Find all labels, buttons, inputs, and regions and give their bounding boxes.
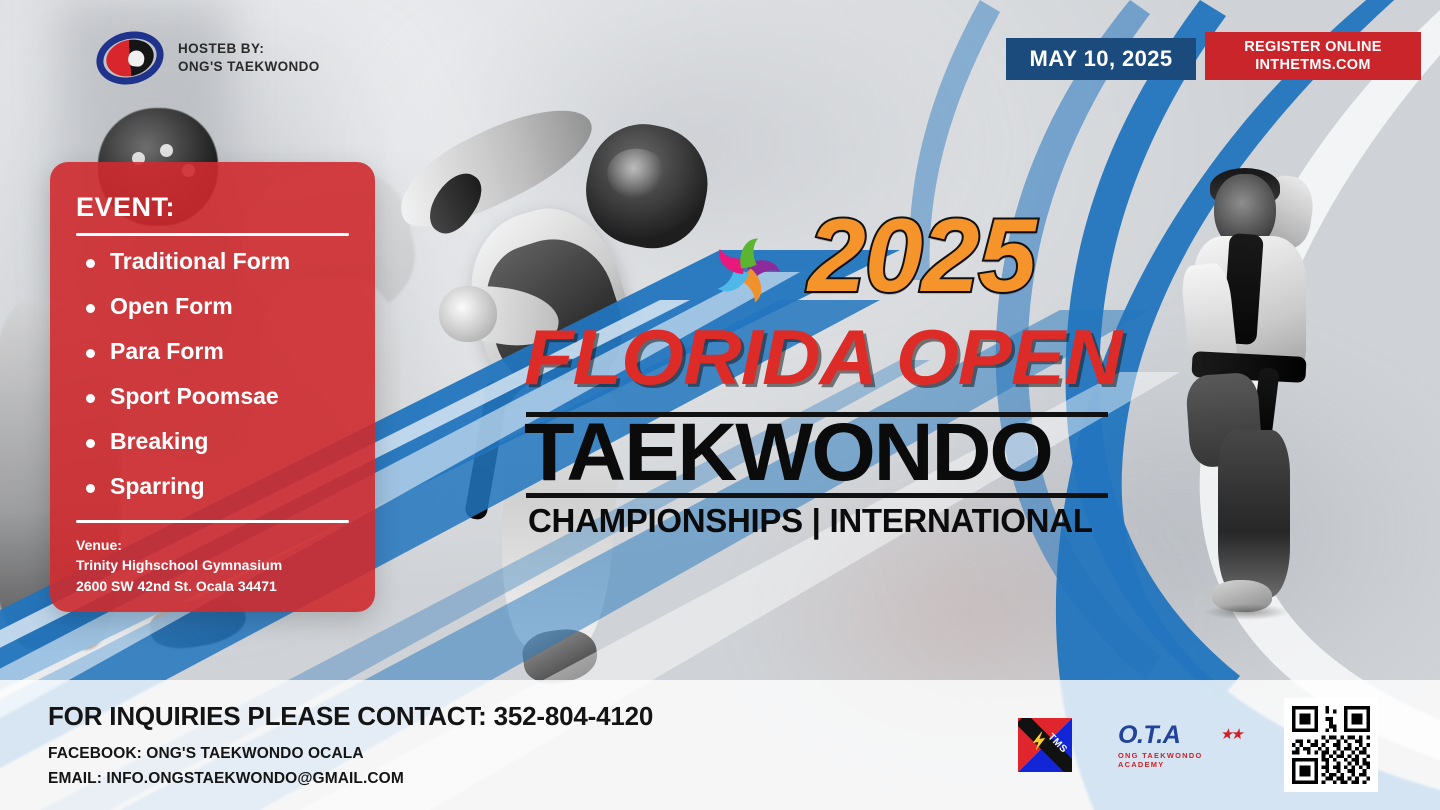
poster-canvas: HOSTEB BY: ONG'S TAEKWONDO MAY 10, 2025 … [0,0,1440,810]
list-item: Para Form [82,340,349,363]
list-item: Sport Poomsae [82,385,349,408]
title-florida-open: FLORIDA OPEN [524,322,1133,394]
footer-logo-row: ⚡ TMS O.T.A ★★ ONG TAEKWONDO ACADEMY [1018,698,1378,792]
title-rule-bottom [526,493,1108,498]
footer-contact-line: FOR INQUIRIES PLEASE CONTACT: 352-804-41… [48,701,653,732]
event-divider-top [76,233,349,236]
host-text: HOSTEB BY: ONG'S TAEKWONDO [178,40,320,76]
venue-address: 2600 SW 42nd St. Ocala 34471 [76,576,349,596]
event-divider-bottom [76,520,349,523]
register-line-1: REGISTER ONLINE [1244,38,1381,56]
register-badge[interactable]: REGISTER ONLINE INTHETMS.COM [1205,32,1421,80]
register-line-2: INTHETMS.COM [1255,56,1371,74]
poomsae-pinwheel-logo-icon [703,228,789,312]
venue-name: Trinity Highschool Gymnasium [76,555,349,575]
host-label: HOSTEB BY: [178,40,320,58]
venue-block: Venue: Trinity Highschool Gymnasium 2600… [76,535,349,596]
host-block: HOSTEB BY: ONG'S TAEKWONDO [96,32,320,84]
ota-logo-sub: ONG TAEKWONDO ACADEMY [1118,751,1238,769]
event-card-heading: EVENT: [76,192,349,223]
tms-logo-icon: ⚡ TMS [1018,718,1072,772]
footer-email-line: EMAIL: INFO.ONGSTAEKWONDO@GMAIL.COM [48,767,653,792]
footer-facebook-line: FACEBOOK: ONG'S TAEKWONDO OCALA [48,742,653,767]
date-badge: MAY 10, 2025 [1006,38,1196,80]
venue-label: Venue: [76,535,349,555]
host-name: ONG'S TAEKWONDO [178,58,320,76]
title-taekwondo: TAEKWONDO [524,414,1116,493]
list-item: Breaking [82,430,349,453]
qr-code-icon[interactable] [1284,698,1378,792]
ota-logo-icon: O.T.A ★★ ONG TAEKWONDO ACADEMY [1118,723,1238,767]
list-item: Traditional Form [82,250,349,273]
event-card: EVENT: Traditional Form Open Form Para F… [50,162,375,612]
ota-logo-stars: ★★ [1219,725,1244,743]
event-list: Traditional Form Open Form Para Form Spo… [76,250,349,498]
title-subtitle: CHAMPIONSHIPS | INTERNATIONAL [528,502,1114,540]
title-year: 2025 [808,210,1035,304]
athlete-poomsae-master [1168,168,1368,618]
list-item: Open Form [82,295,349,318]
list-item: Sparring [82,475,349,498]
ong-taekwondo-ring-logo-icon [96,32,164,84]
footer-contact-block: FOR INQUIRIES PLEASE CONTACT: 352-804-41… [48,701,653,792]
